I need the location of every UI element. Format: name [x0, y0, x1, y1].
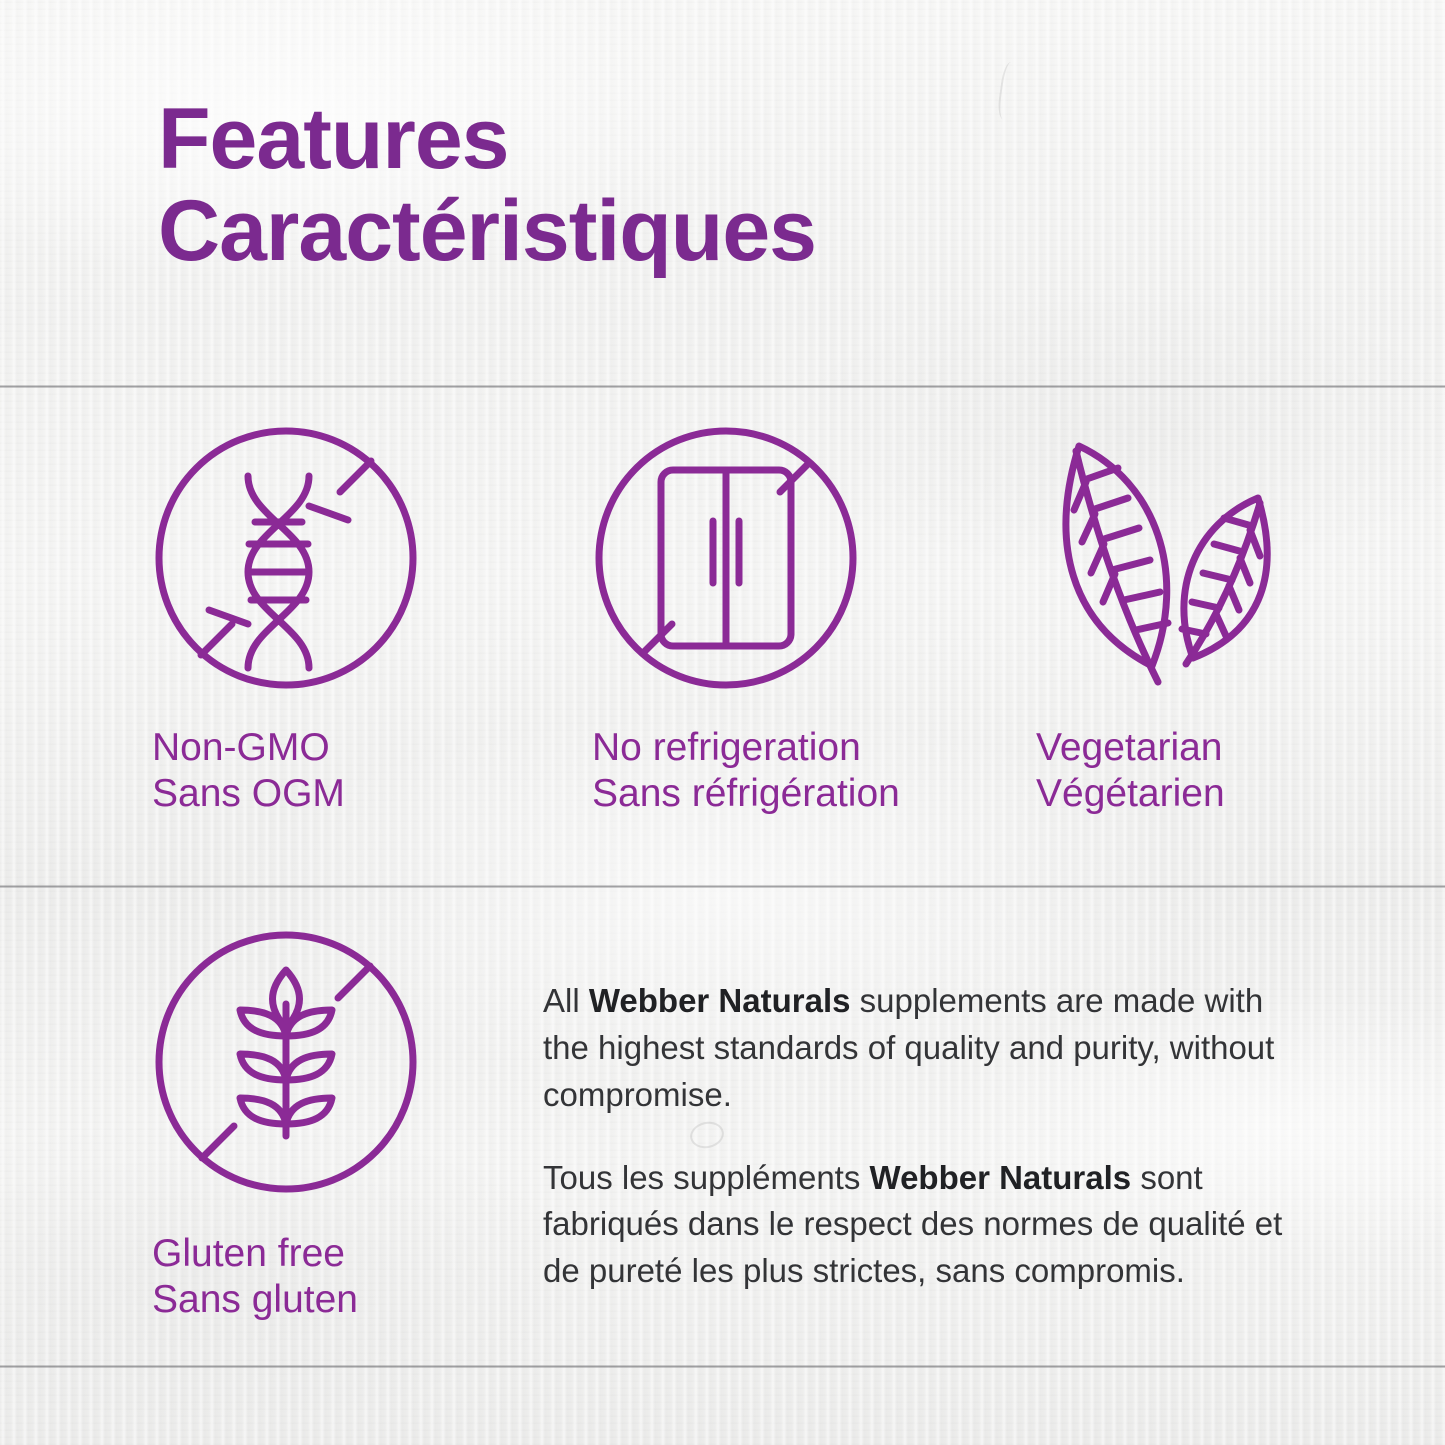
feature-no-refrigeration: No refrigeration Sans réfrigération	[592, 424, 900, 817]
feature-caption: Non-GMO Sans OGM	[152, 725, 420, 817]
feature-label-en: Non-GMO	[152, 726, 330, 769]
body-copy: All Webber Naturals supplements are made…	[543, 978, 1315, 1295]
refrigerator-no-icon	[592, 424, 900, 697]
plank-seam-line	[0, 385, 1445, 388]
brand-name: Webber Naturals	[870, 1159, 1132, 1196]
brand-name: Webber Naturals	[589, 982, 851, 1019]
feature-label-en: No refrigeration	[592, 726, 861, 769]
feature-label-en: Vegetarian	[1036, 726, 1223, 769]
feature-gluten-free: Gluten free Sans gluten	[152, 928, 420, 1323]
feature-label-fr: Sans OGM	[152, 771, 420, 817]
leaves-icon	[1036, 424, 1304, 697]
feature-caption: Vegetarian Végétarien	[1036, 725, 1304, 817]
paragraph-fr-before: Tous les suppléments	[543, 1159, 870, 1196]
wood-knot-mark	[996, 61, 1022, 121]
feature-caption: No refrigeration Sans réfrigération	[592, 725, 900, 817]
paragraph-fr: Tous les suppléments Webber Naturals son…	[543, 1155, 1315, 1296]
plank-seam-line	[0, 885, 1445, 888]
paragraph-en: All Webber Naturals supplements are made…	[543, 978, 1315, 1119]
feature-infographic-panel: Features Caractéristiques	[0, 0, 1445, 1445]
plank-seam-line	[0, 1365, 1445, 1368]
feature-non-gmo: Non-GMO Sans OGM	[152, 424, 420, 817]
wheat-no-icon	[152, 928, 420, 1201]
page-title-fr: Caractéristiques	[158, 188, 816, 276]
page-title: Features Caractéristiques	[158, 96, 816, 275]
feature-label-fr: Végétarien	[1036, 771, 1304, 817]
dna-no-icon	[152, 424, 420, 697]
feature-vegetarian: Vegetarian Végétarien	[1036, 424, 1304, 817]
feature-caption: Gluten free Sans gluten	[152, 1231, 420, 1323]
feature-label-fr: Sans gluten	[152, 1277, 420, 1323]
paragraph-en-before: All	[543, 982, 589, 1019]
page-title-en: Features	[158, 96, 816, 184]
feature-label-fr: Sans réfrigération	[592, 771, 900, 817]
feature-label-en: Gluten free	[152, 1232, 345, 1275]
